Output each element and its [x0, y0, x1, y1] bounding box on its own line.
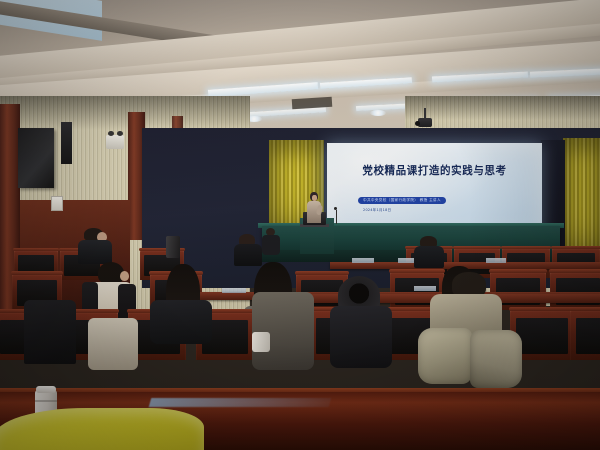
torso: [252, 292, 314, 370]
ceiling-projector-icon: [418, 118, 432, 127]
light-switch[interactable]: [51, 196, 63, 211]
table-row[interactable]: [570, 310, 600, 360]
attendee-back-left: [234, 234, 262, 264]
white-cup: [252, 332, 270, 352]
chair-rail: [13, 248, 59, 251]
chair-rail: [453, 246, 501, 249]
attendee-olive-jacket: [424, 272, 522, 384]
thermos-band: [35, 400, 57, 402]
chair-rail: [501, 246, 551, 249]
attendee-cream-vest-lower: [82, 278, 148, 370]
coat: [150, 300, 212, 344]
projector-hotspot: [327, 143, 499, 226]
wall-speaker-left-icon: [18, 128, 54, 188]
attendee-back-right: [414, 236, 444, 266]
torso: [24, 300, 76, 364]
desk-reflection: [149, 398, 332, 407]
attendee-long-hair-a-lower: [150, 300, 212, 370]
dark-thermos: [166, 236, 180, 258]
torso: [414, 246, 444, 268]
projector-lens-icon: [415, 121, 420, 126]
desk-papers: [486, 258, 506, 263]
chair-rail: [551, 246, 600, 249]
wall-speaker-secondary-icon: [61, 122, 72, 164]
olive-puffer-jacket: [470, 330, 522, 388]
torso: [330, 306, 392, 368]
chair-rail: [549, 269, 600, 272]
slide-date: 2024年1月18日: [363, 207, 391, 212]
wall-shadow: [405, 96, 600, 120]
yellow-cloth: [0, 408, 204, 450]
camera-lens-icon: [108, 131, 114, 136]
wall-shadow: [0, 96, 250, 130]
desk-papers: [222, 288, 246, 293]
chair-cushion: [576, 318, 600, 354]
microphone-stem: [336, 210, 337, 224]
attendee-grey-coat: [252, 292, 314, 370]
ceiling-air-grille: [292, 97, 333, 109]
desk-papers: [352, 258, 374, 263]
camera-lens-icon: [117, 131, 123, 136]
presenter-arm: [316, 205, 323, 216]
attendee-suit-glasses: [78, 228, 112, 262]
chair-rail: [11, 271, 63, 274]
thermos-cap: [36, 386, 56, 393]
chair-rail: [295, 271, 349, 274]
attendee-far-left: [24, 300, 76, 364]
microphone-head-icon: [334, 207, 337, 210]
slide-presenter-pill: 中共中央党校（国家行政学院） 教授 主讲人: [358, 197, 446, 204]
olive-puffer-jacket: [418, 328, 472, 384]
vest-lower: [88, 318, 138, 370]
camera-mount-icon: [106, 135, 124, 149]
chair-rail: [569, 307, 600, 312]
torso: [78, 240, 112, 264]
attendee-dark-hood: [330, 276, 392, 370]
ceiling-downlight: [370, 110, 386, 116]
projection-screen[interactable]: 党校精品课打造的实践与思考 中共中央党校（国家行政学院） 教授 主讲人 2024…: [327, 143, 542, 235]
chair-cushion: [516, 318, 567, 354]
conference-hall-photo: 党校精品课打造的实践与思考 中共中央党校（国家行政学院） 教授 主讲人 2024…: [0, 0, 600, 450]
presenter: [306, 192, 322, 222]
slide-title: 党校精品课打造的实践与思考: [335, 163, 534, 179]
